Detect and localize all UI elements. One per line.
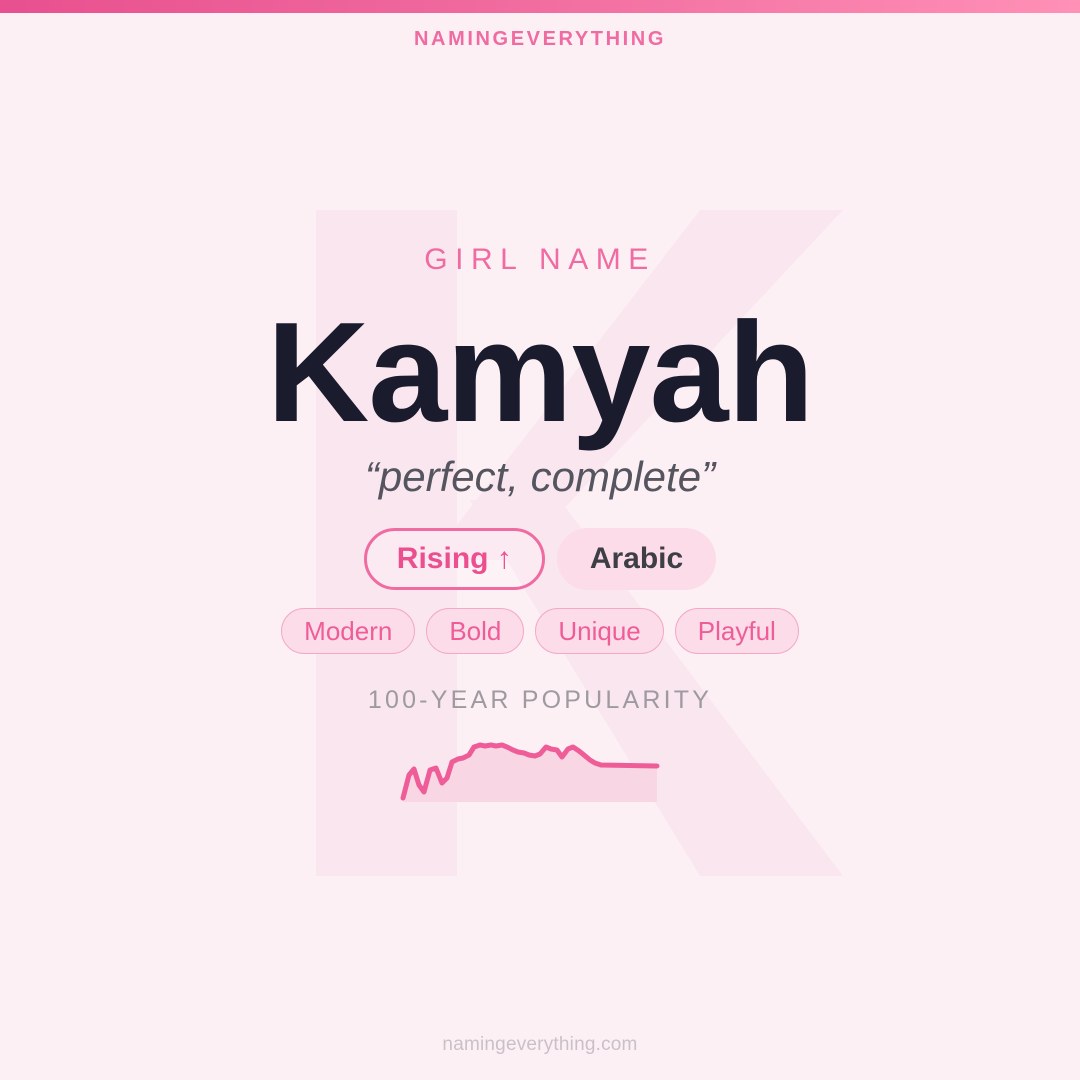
- style-tag: Unique: [535, 608, 663, 654]
- badge-row: Rising ↑ Arabic: [0, 528, 1080, 590]
- sparkline-svg: [390, 725, 690, 810]
- name-meaning: “perfect, complete”: [0, 452, 1080, 502]
- top-accent-bar: [0, 0, 1080, 13]
- status-badge-origin: Arabic: [557, 528, 716, 590]
- popularity-label: 100-YEAR POPULARITY: [0, 688, 1080, 713]
- card-content: GIRL NAME Kamyah “perfect, complete” Ris…: [0, 245, 1080, 810]
- popularity-sparkline: [0, 725, 1080, 810]
- page-title: Kamyah: [0, 301, 1080, 446]
- style-tag: Playful: [675, 608, 799, 654]
- style-tag: Modern: [281, 608, 415, 654]
- brand-wordmark: NAMINGEVERYTHING: [0, 28, 1080, 51]
- footer-url: namingeverything.com: [0, 1034, 1080, 1056]
- name-card-graphic: NAMINGEVERYTHING GIRL NAME Kamyah “perfe…: [0, 0, 1080, 1080]
- status-badge-trend: Rising ↑: [364, 528, 545, 590]
- page-kicker: GIRL NAME: [0, 245, 1080, 275]
- style-tag: Bold: [426, 608, 524, 654]
- style-tag-row: Modern Bold Unique Playful: [0, 608, 1080, 654]
